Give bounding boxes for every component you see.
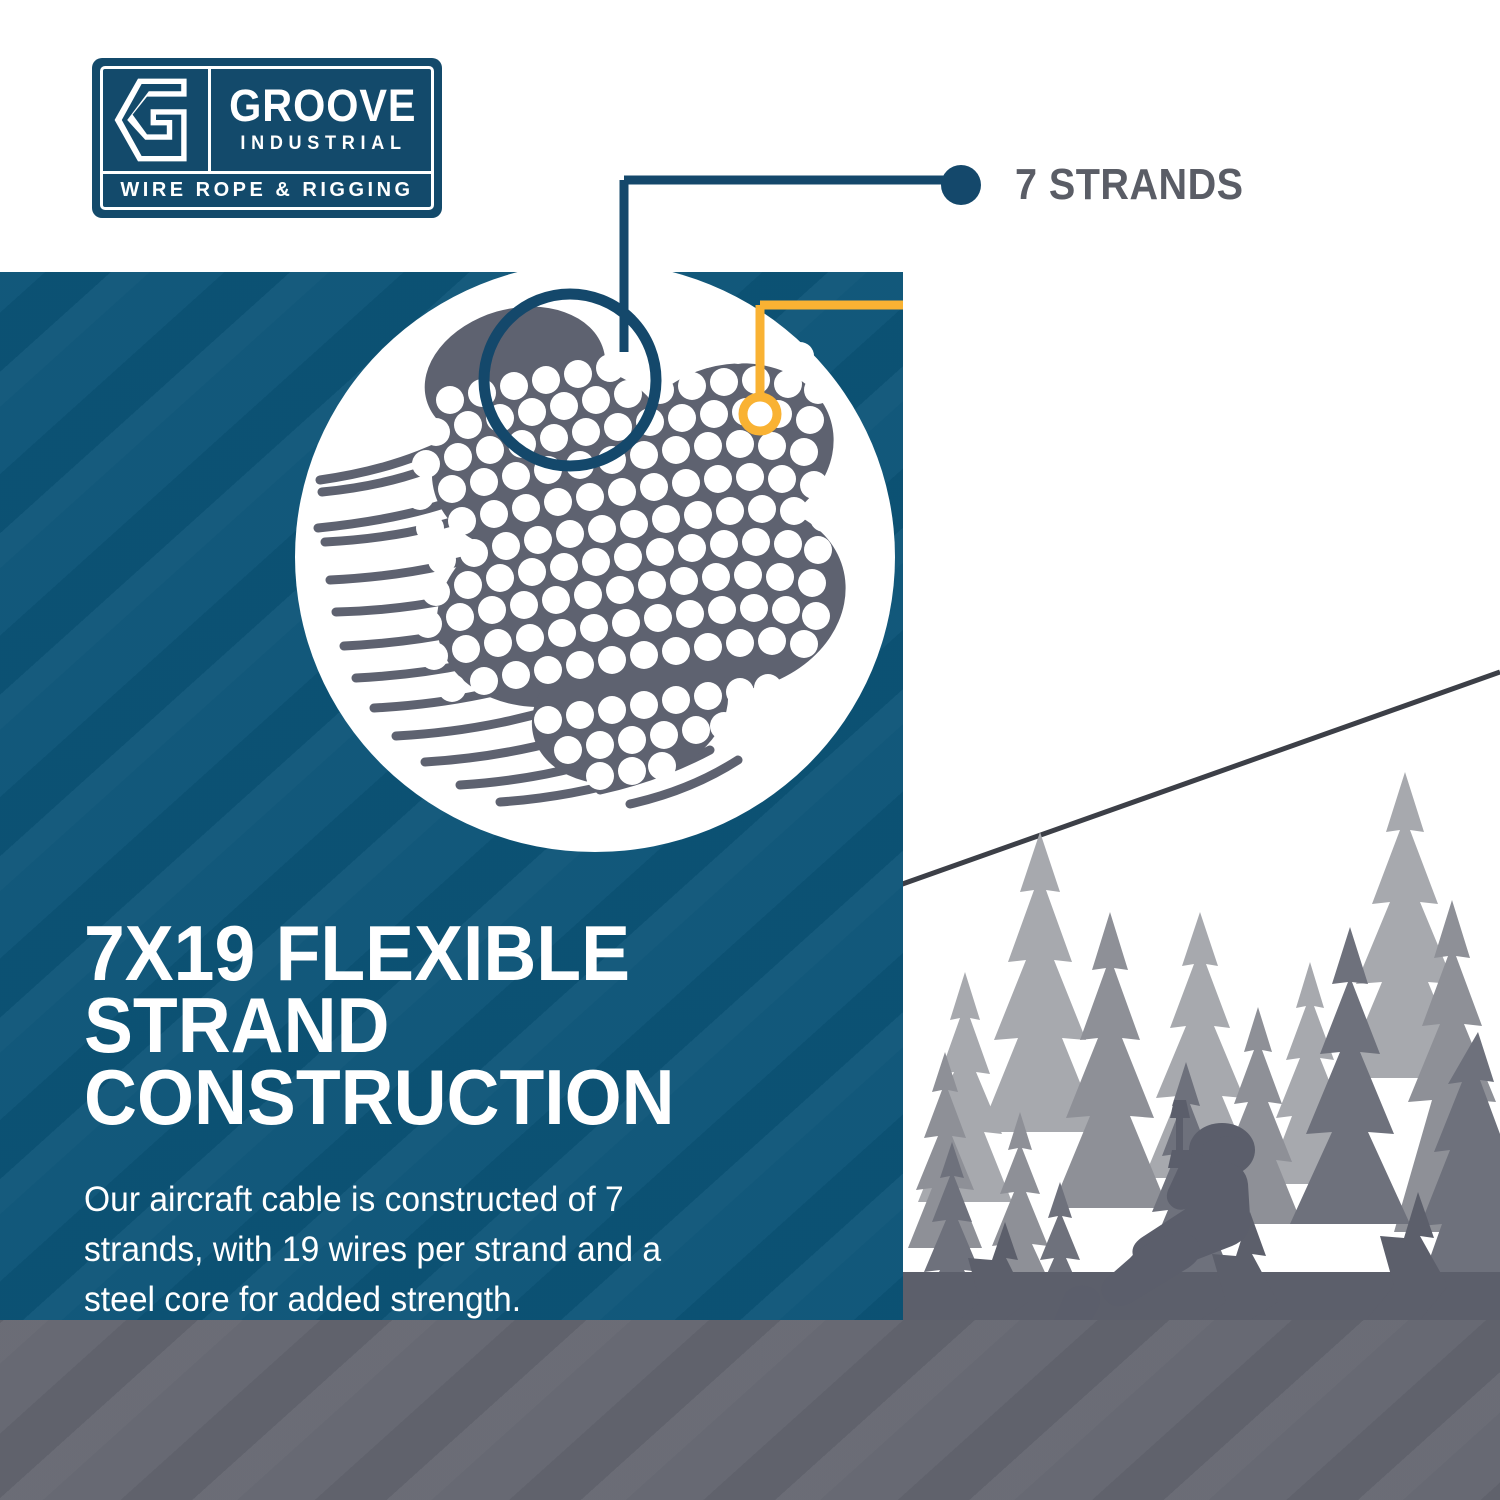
zipline-photo-scene	[903, 272, 1500, 1320]
bottom-grey-band	[0, 1320, 1500, 1500]
tether-strap	[1176, 1115, 1183, 1153]
callout-label: 7 STRANDS	[1015, 160, 1243, 210]
callout-7-strands: 7 STRANDS	[941, 160, 1269, 210]
headline-line-2: STRAND CONSTRUCTION	[84, 990, 827, 1134]
bottom-band-texture	[0, 1320, 1500, 1500]
connector-anchor-ring	[743, 397, 777, 431]
page-title: 7X19 FLEXIBLE STRAND CONSTRUCTION	[84, 918, 827, 1133]
callout-dot-navy	[941, 165, 981, 205]
zipline-illustration	[903, 272, 1500, 1320]
infographic-canvas: GROOVE INDUSTRIAL WIRE ROPE & RIGGING	[0, 0, 1500, 1500]
body-copy: Our aircraft cable is constructed of 7 s…	[84, 1175, 737, 1324]
headline-block: 7X19 FLEXIBLE STRAND CONSTRUCTION Our ai…	[84, 918, 874, 1324]
